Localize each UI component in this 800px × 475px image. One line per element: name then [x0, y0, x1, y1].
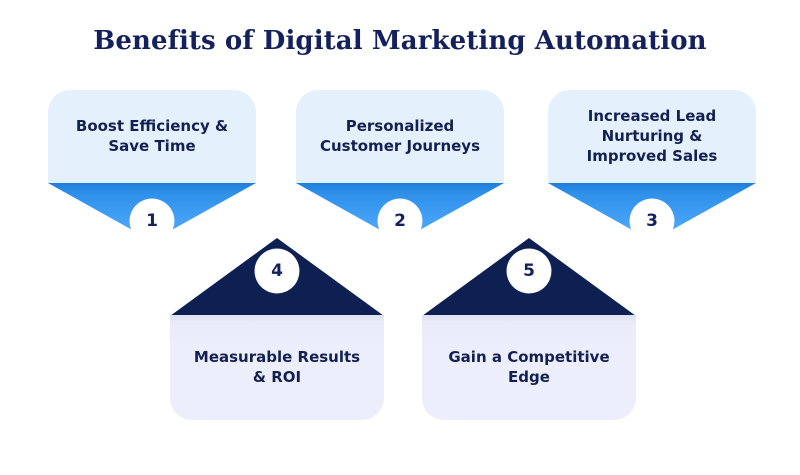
benefit-card-1-number-badge: 1 [130, 199, 174, 243]
benefit-card-5-number: 5 [523, 261, 535, 281]
benefit-card-5-label: Gain a Competitive Edge [448, 348, 609, 388]
infographic-canvas: Benefits of Digital Marketing Automation… [0, 0, 800, 475]
benefit-card-5-body: Gain a Competitive Edge [422, 315, 636, 420]
benefit-card-2-number: 2 [394, 211, 406, 231]
benefit-card-2-body: Personalized Customer Journeys [296, 90, 504, 184]
benefit-card-3-body: Increased Lead Nurturing & Improved Sale… [548, 90, 756, 184]
benefit-card-1-body: Boost Efficiency & Save Time [48, 90, 256, 184]
benefit-card-4-body: Measurable Results & ROI [170, 315, 384, 420]
benefit-card-1-number: 1 [146, 211, 158, 231]
benefit-card-1-label: Boost Efficiency & Save Time [76, 117, 228, 157]
benefit-card-4-number: 4 [271, 261, 283, 281]
benefit-card-4-number-badge: 4 [255, 249, 299, 293]
benefit-card-3-number-badge: 3 [630, 199, 674, 243]
benefit-card-4-label: Measurable Results & ROI [194, 348, 360, 388]
benefit-card-2-label: Personalized Customer Journeys [320, 117, 480, 157]
benefit-card-3-label: Increased Lead Nurturing & Improved Sale… [587, 107, 718, 166]
benefit-card-5-number-badge: 5 [507, 249, 551, 293]
page-title: Benefits of Digital Marketing Automation [0, 26, 800, 56]
benefit-card-3-number: 3 [646, 211, 658, 231]
benefit-card-2-number-badge: 2 [378, 199, 422, 243]
